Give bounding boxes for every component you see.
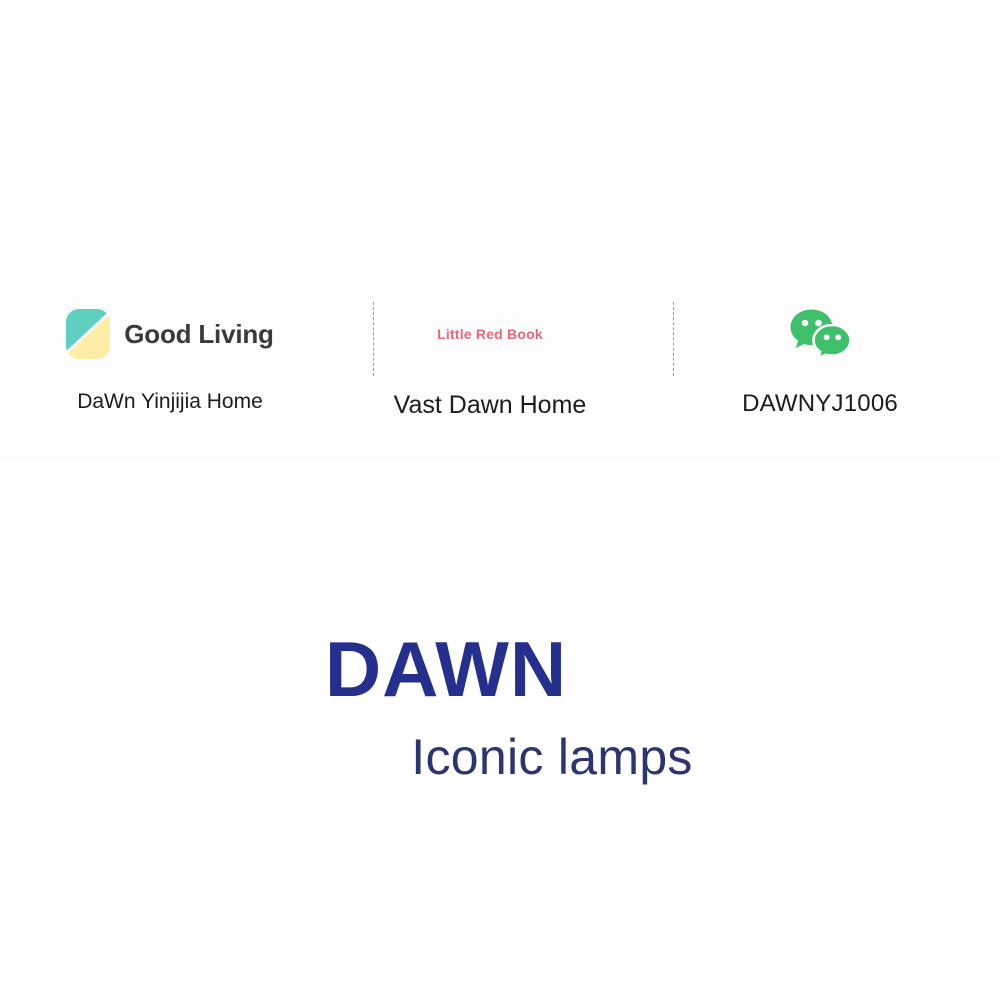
channel-divider-right	[673, 302, 674, 376]
good-living-lockup: Good Living	[66, 309, 273, 359]
channel-item-wechat[interactable]: DAWNYJ1006	[640, 290, 1000, 460]
channel-handle-little-red-book: Vast Dawn Home	[340, 391, 640, 420]
poster-canvas: Good Living DaWn Yinjijia Home Little Re…	[0, 0, 1000, 983]
little-red-book-wordmark: Little Red Book	[437, 326, 543, 342]
channel-handle-wechat: DAWNYJ1006	[640, 390, 1000, 418]
channel-badge-good-living: Good Living	[0, 290, 340, 378]
channel-badge-little-red-book: Little Red Book	[340, 290, 640, 378]
good-living-icon	[66, 309, 110, 359]
channel-item-little-red-book[interactable]: Little Red Book Vast Dawn Home	[340, 290, 640, 460]
social-channel-strip: Good Living DaWn Yinjijia Home Little Re…	[0, 290, 1000, 460]
channel-handle-good-living: DaWn Yinjijia Home	[0, 390, 340, 414]
channel-badge-wechat	[640, 290, 1000, 378]
brand-title: DAWN	[0, 630, 1000, 708]
brand-tagline: Iconic lamps	[104, 732, 1000, 782]
wechat-icon	[789, 307, 851, 361]
good-living-wordmark: Good Living	[124, 319, 273, 350]
brand-block: DAWN Iconic lamps	[0, 630, 1000, 782]
channel-item-good-living[interactable]: Good Living DaWn Yinjijia Home	[0, 290, 340, 460]
channel-divider-left	[373, 302, 374, 376]
